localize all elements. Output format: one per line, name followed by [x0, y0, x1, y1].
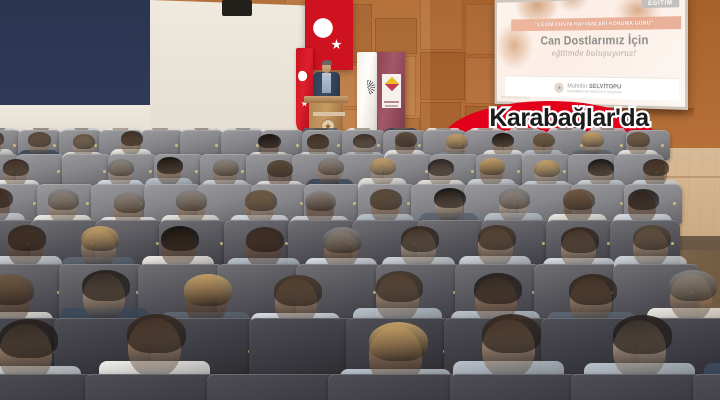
- speaker-hair: [322, 60, 332, 65]
- audience-person-hair: [474, 273, 521, 304]
- audience-person-hair: [108, 159, 134, 176]
- audience-person-hair: [305, 191, 336, 212]
- projection-screen-surface: EĞİTİM "4 EKİM DÜNYA HAYVANLARI KORUMA G…: [497, 0, 685, 107]
- audience-person-hair: [161, 226, 200, 251]
- audience-person-hair: [127, 314, 186, 353]
- flag-star-icon: [331, 39, 342, 50]
- audience-person-hair: [563, 189, 594, 210]
- audience-person-hair: [395, 132, 417, 147]
- slide-band: "4 EKİM DÜNYA HAYVANLARI KORUMA GÜNÜ": [511, 16, 681, 31]
- audience-person-hair: [267, 160, 293, 177]
- navy-wall-panel: [0, 0, 150, 105]
- audience-person-hair: [534, 160, 560, 177]
- auditorium-seat: [450, 374, 582, 400]
- audience-person-hair: [48, 189, 79, 210]
- audience-person-hair: [370, 189, 401, 210]
- audience-person-hair: [533, 133, 555, 148]
- slide-speaker-first: Muhittin: [567, 82, 589, 89]
- audience-seating: [0, 128, 720, 400]
- slide-logo-bar: Muhittin SELVİTOPU KARABAĞLAR BELEDİYE B…: [505, 75, 679, 100]
- auditorium-seat: [85, 374, 217, 400]
- diamond-logo-icon: [384, 77, 398, 91]
- audience-person-hair: [3, 159, 29, 176]
- slide-speaker-name: Muhittin SELVİTOPU KARABAĞLAR BELEDİYE B…: [567, 82, 622, 94]
- audience-person-hair: [369, 322, 428, 361]
- audience-person-hair: [0, 319, 58, 358]
- audience-person-hair: [376, 271, 423, 302]
- audience-person-hair: [307, 134, 329, 149]
- badge-line-1: Karabağlar'da: [489, 106, 648, 131]
- screenshot-root: EĞİTİM "4 EKİM DÜNYA HAYVANLARI KORUMA G…: [0, 0, 720, 400]
- wall-panel-tile: [420, 0, 463, 50]
- slide-speaker-title: KARABAĞLAR BELEDİYE BAŞKANI: [567, 89, 622, 94]
- podium-nameplate: [313, 112, 345, 116]
- audience-person-hair: [628, 189, 659, 210]
- audience-person-hair: [479, 158, 505, 175]
- municipality-white-flag: [357, 52, 377, 138]
- audience-person-hair: [8, 225, 47, 250]
- flag-crescent-icon: [298, 70, 310, 82]
- audience-person-hair: [627, 132, 649, 147]
- podium-top: [304, 96, 348, 103]
- slide-tag: EĞİTİM: [641, 0, 679, 8]
- audience-person-hair: [581, 132, 603, 147]
- slide-band-text: "4 EKİM DÜNYA HAYVANLARI KORUMA GÜNÜ": [535, 20, 654, 28]
- audience-person-hair: [323, 227, 362, 252]
- wall-panel-tile: [375, 18, 417, 54]
- speaker-shirt: [322, 73, 331, 93]
- audience-person-hair: [184, 274, 231, 305]
- audience-person-hair: [446, 134, 468, 149]
- banner-card: [382, 74, 401, 108]
- auditorium-seat: [571, 374, 703, 400]
- audience-person-hair: [633, 225, 672, 250]
- audience-person-hair: [561, 227, 600, 252]
- banner-text-line-2: [385, 105, 398, 107]
- audience-person-hair: [81, 226, 120, 251]
- wall-panel-tile: [420, 52, 465, 100]
- audience-person-hair: [28, 132, 50, 147]
- projection-screen: EĞİTİM "4 EKİM DÜNYA HAYVANLARI KORUMA G…: [495, 0, 688, 110]
- municipality-logo-icon: [555, 82, 564, 92]
- audience-person-hair: [569, 274, 616, 305]
- audience-person-hair: [588, 159, 614, 176]
- audience-person-hair: [213, 159, 239, 176]
- slide-title: Can Dostlarımız İçin: [516, 33, 677, 47]
- audience-person-hair: [613, 315, 672, 354]
- audience-person-hair: [401, 226, 440, 251]
- audience-person-hair: [482, 314, 541, 353]
- auditorium-seat: [207, 374, 339, 400]
- audience-person-hair: [176, 190, 207, 211]
- audience-person-hair: [478, 225, 517, 250]
- audience-person-hair: [499, 188, 530, 209]
- audience-person-hair: [73, 134, 95, 149]
- audience-person-hair: [121, 131, 143, 146]
- audience-person-hair: [428, 159, 454, 176]
- auditorium-seat: [328, 374, 460, 400]
- slide-corner-url: www.karabaglar.bel.tr: [501, 95, 530, 99]
- audience-person-hair: [82, 270, 129, 301]
- audience-person-hair: [370, 158, 396, 175]
- audience-person-hair: [157, 157, 183, 174]
- audience-person-hair: [643, 159, 669, 176]
- audience-person-hair: [258, 134, 280, 149]
- audience-person-hair: [274, 275, 321, 306]
- audience-person-hair: [669, 270, 716, 301]
- audience-person-hair: [492, 133, 514, 148]
- audience-person-hair: [246, 227, 285, 252]
- ceiling-speaker-icon: [222, 0, 252, 16]
- auditorium-seat: [0, 374, 96, 400]
- slide-subtitle: eğitimde buluşuyoruz!: [516, 49, 677, 59]
- audience-person-hair: [318, 158, 344, 175]
- auditorium-seat: [693, 374, 720, 400]
- banner-text-line: [384, 101, 399, 103]
- sunburst-logo-icon: [360, 80, 375, 95]
- audience-person-hair: [245, 190, 276, 211]
- audience-person-hair: [353, 134, 375, 149]
- audience-person-hair: [114, 192, 145, 213]
- audience-person-hair: [434, 188, 465, 209]
